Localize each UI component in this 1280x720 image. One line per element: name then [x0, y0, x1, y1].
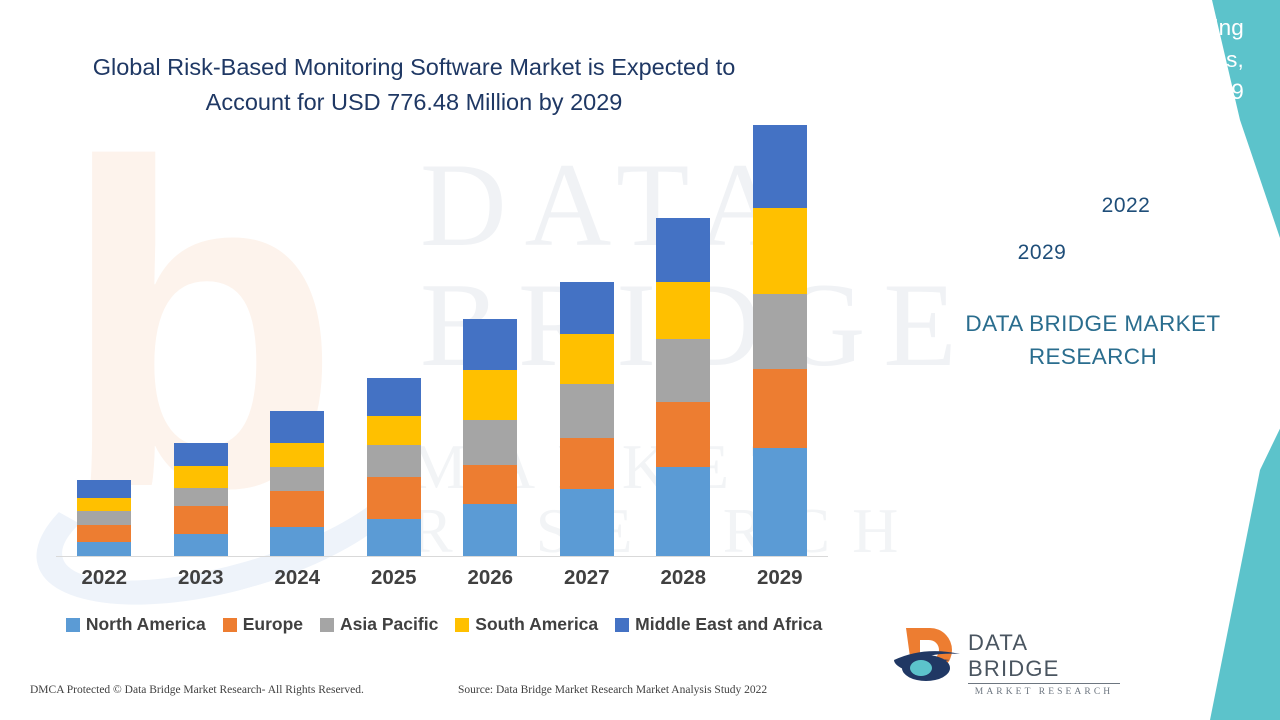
legend-label: Europe — [243, 614, 303, 635]
bar-segment — [560, 282, 614, 334]
legend-item[interactable]: North America — [66, 614, 206, 635]
x-axis-label: 2029 — [732, 566, 828, 590]
bar-segment — [656, 218, 710, 282]
logo-subtitle: MARKET RESEARCH — [968, 687, 1120, 697]
bar-column — [463, 319, 517, 556]
bar-segment — [77, 511, 131, 525]
footer-source: Source: Data Bridge Market Research Mark… — [458, 684, 767, 696]
legend-swatch-icon — [455, 618, 469, 632]
footer-copyright: DMCA Protected © Data Bridge Market Rese… — [30, 684, 364, 696]
x-axis-label: 2022 — [56, 566, 152, 590]
bar-segment — [656, 282, 710, 339]
bar-segment — [753, 369, 807, 448]
logo-name: DATA BRIDGE — [968, 630, 1120, 684]
bar-column — [270, 411, 324, 556]
legend-label: South America — [475, 614, 598, 635]
bar-segment — [174, 466, 228, 487]
bar-segment — [753, 208, 807, 293]
x-axis-label: 2028 — [635, 566, 731, 590]
bar-segment — [77, 542, 131, 556]
legend-item[interactable]: Middle East and Africa — [615, 614, 822, 635]
bar-segment — [174, 488, 228, 507]
bar-segment — [753, 448, 807, 556]
bar-segment — [656, 467, 710, 556]
x-axis-tick-labels: 20222023202420252026202720282029 — [56, 566, 828, 600]
bar-column — [560, 282, 614, 556]
bar-column — [77, 480, 131, 556]
bar-segment — [560, 489, 614, 556]
bar-segment — [560, 438, 614, 490]
bar-segment — [367, 477, 421, 519]
bar-segment — [270, 443, 324, 468]
hexagon-2029-label: 2029 — [986, 190, 1098, 316]
bar-segment — [753, 125, 807, 209]
slide-canvas: b DATA BRIDGE MARKET RESEARCH Global Ris… — [0, 0, 1280, 720]
legend-swatch-icon — [66, 618, 80, 632]
chart-plot-area — [56, 150, 828, 556]
legend-swatch-icon — [615, 618, 629, 632]
legend-label: Middle East and Africa — [635, 614, 822, 635]
hexagon-year-badges: 2022 2029 — [978, 152, 1208, 287]
bar-segment — [463, 504, 517, 556]
legend-label: North America — [86, 614, 206, 635]
bar-segment — [174, 443, 228, 467]
company-logo: DATA BRIDGE MARKET RESEARCH — [890, 622, 1120, 692]
x-axis-line — [56, 556, 828, 557]
bar-segment — [463, 465, 517, 505]
bar-segment — [77, 525, 131, 543]
bar-segment — [270, 467, 324, 491]
bar-segment — [367, 519, 421, 556]
logo-wordmark: DATA BRIDGE MARKET RESEARCH — [968, 630, 1120, 697]
bar-segment — [367, 416, 421, 446]
legend-swatch-icon — [320, 618, 334, 632]
bar-column — [753, 125, 807, 556]
x-axis-label: 2023 — [153, 566, 249, 590]
bar-segment — [174, 534, 228, 556]
legend-label: Asia Pacific — [340, 614, 438, 635]
bar-segment — [463, 319, 517, 370]
bar-segment — [367, 378, 421, 415]
data-bridge-logo-icon — [890, 622, 966, 684]
bar-segment — [463, 370, 517, 420]
bar-segment — [463, 420, 517, 465]
bar-segment — [77, 480, 131, 498]
panel-title: Global Risk-Based Monitoring Software Ma… — [904, 12, 1244, 108]
bar-segment — [656, 402, 710, 467]
bar-segment — [77, 498, 131, 512]
bar-column — [174, 443, 228, 556]
legend-item[interactable]: South America — [455, 614, 598, 635]
bar-segment — [174, 506, 228, 534]
chart-legend: North AmericaEuropeAsia PacificSouth Ame… — [56, 614, 832, 635]
bar-column — [367, 378, 421, 556]
x-axis-label: 2025 — [346, 566, 442, 590]
x-axis-label: 2026 — [442, 566, 538, 590]
panel-brand-text: DATA BRIDGE MARKET RESEARCH — [948, 308, 1238, 373]
bar-segment — [656, 339, 710, 402]
legend-swatch-icon — [223, 618, 237, 632]
x-axis-label: 2024 — [249, 566, 345, 590]
bar-column — [656, 218, 710, 556]
stacked-bar-chart: 20222023202420252026202720282029 North A… — [0, 0, 860, 660]
bar-segment — [560, 384, 614, 437]
bar-segment — [753, 294, 807, 369]
legend-item[interactable]: Europe — [223, 614, 303, 635]
x-axis-label: 2027 — [539, 566, 635, 590]
legend-item[interactable]: Asia Pacific — [320, 614, 438, 635]
bar-segment — [367, 445, 421, 476]
bar-segment — [270, 411, 324, 442]
bar-segment — [560, 334, 614, 384]
bar-segment — [270, 527, 324, 556]
bar-segment — [270, 491, 324, 527]
